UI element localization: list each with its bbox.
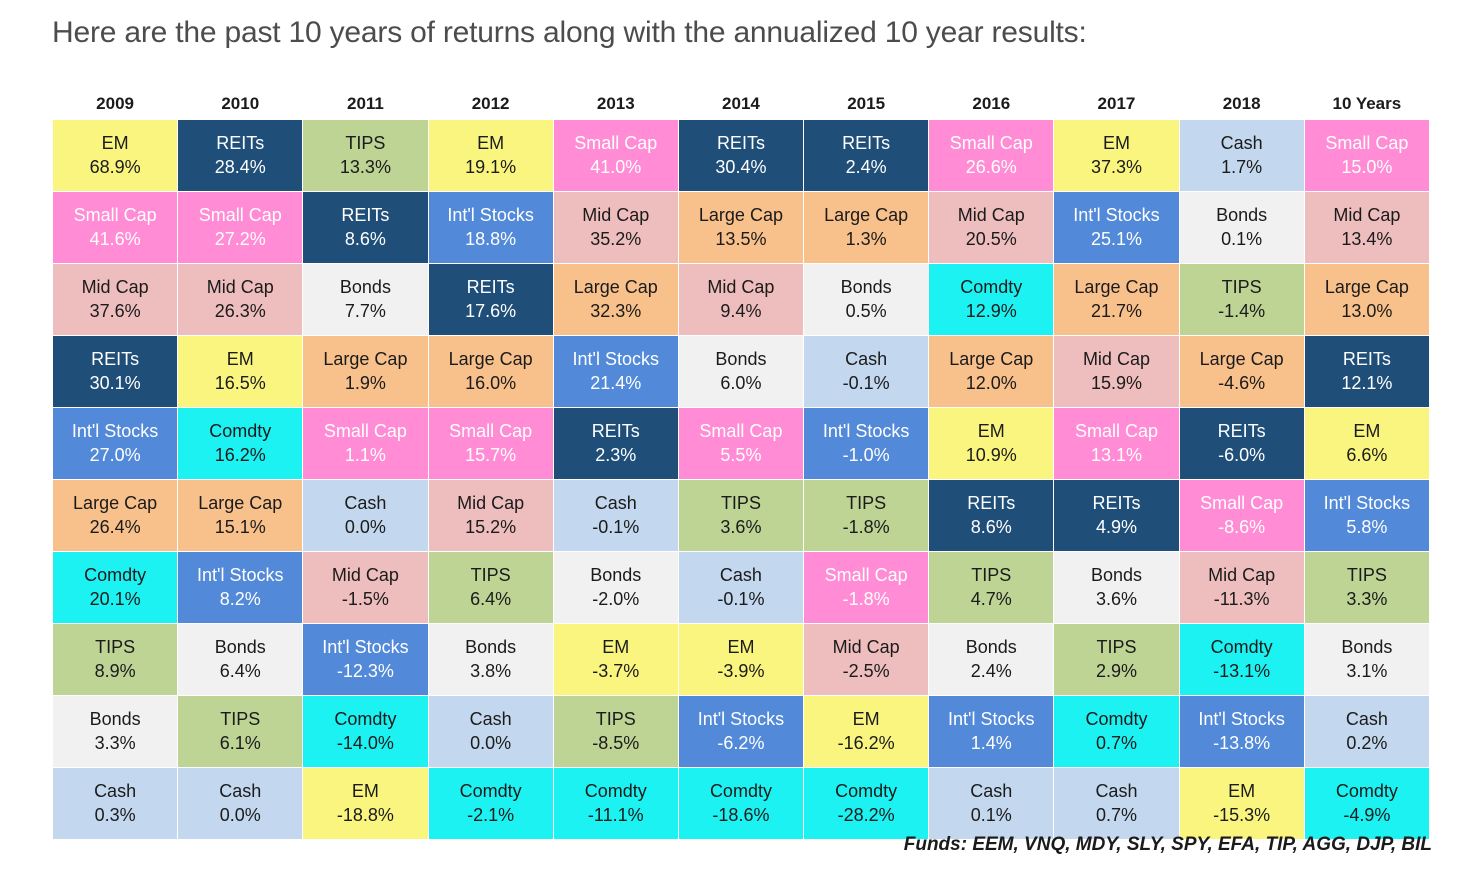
quilt-cell--intlstocks: Int'l Stocks-1.0%: [804, 408, 929, 480]
quilt-cell--largecap: Large Cap13.5%: [678, 192, 803, 264]
quilt-cell--cash: Cash-0.1%: [553, 480, 678, 552]
cell-asset-label: Int'l Stocks: [1054, 204, 1178, 227]
quilt-cell--smallcap: Small Cap1.1%: [303, 408, 428, 480]
quilt-cell--cash: Cash0.0%: [303, 480, 428, 552]
cell-return-value: 0.0%: [303, 516, 427, 539]
cell-return-value: 2.3%: [554, 444, 678, 467]
quilt-cell--bonds: Bonds6.0%: [678, 336, 803, 408]
cell-asset-label: TIPS: [679, 492, 803, 515]
column-header-: 2014: [678, 86, 803, 120]
cell-asset-label: Cash: [679, 564, 803, 587]
cell-asset-label: Small Cap: [679, 420, 803, 443]
cell-return-value: -16.2%: [804, 732, 928, 755]
cell-asset-label: EM: [303, 780, 427, 803]
cell-asset-label: Comdty: [804, 780, 928, 803]
cell-return-value: -1.5%: [303, 588, 427, 611]
cell-asset-label: TIPS: [804, 492, 928, 515]
cell-asset-label: Int'l Stocks: [804, 420, 928, 443]
cell-return-value: 0.1%: [929, 804, 1053, 827]
cell-return-value: 26.3%: [178, 300, 302, 323]
cell-return-value: -18.8%: [303, 804, 427, 827]
quilt-cell--tips: TIPS3.6%: [678, 480, 803, 552]
quilt-cell-years-intlstocks: Int'l Stocks5.8%: [1304, 480, 1429, 552]
cell-return-value: 35.2%: [554, 228, 678, 251]
quilt-cell--reits: REITs30.4%: [678, 120, 803, 192]
cell-asset-label: Int'l Stocks: [929, 708, 1053, 731]
cell-return-value: 15.2%: [429, 516, 553, 539]
cell-asset-label: EM: [1305, 420, 1429, 443]
cell-asset-label: EM: [429, 132, 553, 155]
quilt-cell--comdty: Comdty-28.2%: [804, 768, 929, 840]
cell-asset-label: TIPS: [929, 564, 1053, 587]
quilt-cell--midcap: Mid Cap15.2%: [428, 480, 553, 552]
column-header-years: 10 Years: [1304, 86, 1429, 120]
quilt-cell-years-comdty: Comdty-4.9%: [1304, 768, 1429, 840]
cell-return-value: 15.9%: [1054, 372, 1178, 395]
cell-asset-label: Comdty: [303, 708, 427, 731]
cell-return-value: 0.2%: [1305, 732, 1429, 755]
cell-return-value: 1.4%: [929, 732, 1053, 755]
cell-asset-label: Large Cap: [303, 348, 427, 371]
cell-asset-label: REITs: [1305, 348, 1429, 371]
cell-return-value: 17.6%: [429, 300, 553, 323]
quilt-cell--em: EM10.9%: [929, 408, 1054, 480]
cell-return-value: -1.8%: [804, 588, 928, 611]
quilt-cell--bonds: Bonds3.8%: [428, 624, 553, 696]
cell-return-value: 15.1%: [178, 516, 302, 539]
quilt-cell--cash: Cash0.7%: [1054, 768, 1179, 840]
cell-asset-label: Small Cap: [429, 420, 553, 443]
quilt-cell--largecap: Large Cap1.9%: [303, 336, 428, 408]
cell-return-value: 37.3%: [1054, 156, 1178, 179]
cell-asset-label: EM: [679, 636, 803, 659]
cell-asset-label: Mid Cap: [804, 636, 928, 659]
cell-asset-label: Large Cap: [1054, 276, 1178, 299]
cell-asset-label: Large Cap: [929, 348, 1053, 371]
quilt-cell--intlstocks: Int'l Stocks27.0%: [53, 408, 178, 480]
quilt-cell--comdty: Comdty-13.1%: [1179, 624, 1304, 696]
cell-asset-label: Mid Cap: [1305, 204, 1429, 227]
cell-return-value: 3.3%: [1305, 588, 1429, 611]
cell-asset-label: Large Cap: [1305, 276, 1429, 299]
cell-asset-label: Comdty: [53, 564, 177, 587]
cell-asset-label: Cash: [53, 780, 177, 803]
cell-return-value: -2.0%: [554, 588, 678, 611]
quilt-cell--em: EM-15.3%: [1179, 768, 1304, 840]
quilt-cell-years-em: EM6.6%: [1304, 408, 1429, 480]
quilt-cell--bonds: Bonds3.3%: [53, 696, 178, 768]
quilt-cell--smallcap: Small Cap-1.8%: [804, 552, 929, 624]
cell-return-value: 1.1%: [303, 444, 427, 467]
cell-asset-label: TIPS: [429, 564, 553, 587]
quilt-cell--comdty: Comdty12.9%: [929, 264, 1054, 336]
quilt-cell--largecap: Large Cap1.3%: [804, 192, 929, 264]
quilt-cell--midcap: Mid Cap20.5%: [929, 192, 1054, 264]
cell-return-value: 0.0%: [178, 804, 302, 827]
quilt-cell--smallcap: Small Cap13.1%: [1054, 408, 1179, 480]
quilt-cell--comdty: Comdty-18.6%: [678, 768, 803, 840]
quilt-cell--smallcap: Small Cap5.5%: [678, 408, 803, 480]
quilt-cell--tips: TIPS8.9%: [53, 624, 178, 696]
cell-asset-label: Int'l Stocks: [429, 204, 553, 227]
cell-asset-label: Small Cap: [804, 564, 928, 587]
cell-return-value: 6.1%: [178, 732, 302, 755]
cell-return-value: 4.9%: [1054, 516, 1178, 539]
quilt-cell--reits: REITs8.6%: [303, 192, 428, 264]
cell-asset-label: Cash: [554, 492, 678, 515]
column-header-: 2013: [553, 86, 678, 120]
quilt-cell--bonds: Bonds0.5%: [804, 264, 929, 336]
cell-return-value: 41.0%: [554, 156, 678, 179]
cell-asset-label: EM: [804, 708, 928, 731]
table-row: TIPS8.9%Bonds6.4%Int'l Stocks-12.3%Bonds…: [53, 624, 1430, 696]
cell-asset-label: Bonds: [53, 708, 177, 731]
cell-return-value: 8.6%: [929, 516, 1053, 539]
cell-return-value: 3.6%: [679, 516, 803, 539]
quilt-cell--midcap: Mid Cap-2.5%: [804, 624, 929, 696]
cell-asset-label: TIPS: [53, 636, 177, 659]
cell-asset-label: Int'l Stocks: [303, 636, 427, 659]
quilt-cell--reits: REITs4.9%: [1054, 480, 1179, 552]
cell-return-value: 2.9%: [1054, 660, 1178, 683]
table-row: Int'l Stocks27.0%Comdty16.2%Small Cap1.1…: [53, 408, 1430, 480]
column-header-: 2018: [1179, 86, 1304, 120]
column-header-: 2015: [804, 86, 929, 120]
cell-asset-label: Int'l Stocks: [1180, 708, 1304, 731]
quilt-cell--comdty: Comdty-11.1%: [553, 768, 678, 840]
cell-return-value: 16.0%: [429, 372, 553, 395]
quilt-cell-years-smallcap: Small Cap15.0%: [1304, 120, 1429, 192]
cell-return-value: 5.8%: [1305, 516, 1429, 539]
cell-asset-label: Comdty: [429, 780, 553, 803]
funds-footnote: Funds: EEM, VNQ, MDY, SLY, SPY, EFA, TIP…: [904, 834, 1432, 856]
quilt-cell--largecap: Large Cap21.7%: [1054, 264, 1179, 336]
cell-asset-label: REITs: [804, 132, 928, 155]
cell-return-value: -12.3%: [303, 660, 427, 683]
cell-return-value: -8.6%: [1180, 516, 1304, 539]
quilt-cell--cash: Cash1.7%: [1179, 120, 1304, 192]
cell-asset-label: Comdty: [554, 780, 678, 803]
cell-asset-label: Bonds: [429, 636, 553, 659]
cell-return-value: 13.5%: [679, 228, 803, 251]
cell-asset-label: Small Cap: [929, 132, 1053, 155]
cell-asset-label: Bonds: [929, 636, 1053, 659]
cell-return-value: 27.2%: [178, 228, 302, 251]
cell-return-value: -18.6%: [679, 804, 803, 827]
quilt-cell--em: EM-18.8%: [303, 768, 428, 840]
cell-asset-label: Comdty: [1054, 708, 1178, 731]
quilt-cell--comdty: Comdty-14.0%: [303, 696, 428, 768]
cell-asset-label: Int'l Stocks: [679, 708, 803, 731]
quilt-cell--tips: TIPS6.1%: [178, 696, 303, 768]
cell-return-value: -3.7%: [554, 660, 678, 683]
quilt-cell--reits: REITs28.4%: [178, 120, 303, 192]
cell-return-value: -13.1%: [1180, 660, 1304, 683]
cell-asset-label: TIPS: [1180, 276, 1304, 299]
column-header-: 2011: [303, 86, 428, 120]
cell-asset-label: REITs: [554, 420, 678, 443]
cell-asset-label: Large Cap: [1180, 348, 1304, 371]
quilt-cell--em: EM16.5%: [178, 336, 303, 408]
cell-return-value: -0.1%: [679, 588, 803, 611]
cell-asset-label: Int'l Stocks: [1305, 492, 1429, 515]
cell-return-value: 6.4%: [178, 660, 302, 683]
cell-return-value: -0.1%: [554, 516, 678, 539]
cell-return-value: 13.4%: [1305, 228, 1429, 251]
cell-asset-label: Mid Cap: [429, 492, 553, 515]
cell-asset-label: Cash: [929, 780, 1053, 803]
quilt-cell--comdty: Comdty-2.1%: [428, 768, 553, 840]
cell-return-value: 25.1%: [1054, 228, 1178, 251]
cell-return-value: 8.2%: [178, 588, 302, 611]
quilt-cell--tips: TIPS4.7%: [929, 552, 1054, 624]
cell-return-value: -11.3%: [1180, 588, 1304, 611]
quilt-cell--em: EM-3.7%: [553, 624, 678, 696]
cell-return-value: -11.1%: [554, 804, 678, 827]
cell-return-value: -6.0%: [1180, 444, 1304, 467]
quilt-cell--bonds: Bonds7.7%: [303, 264, 428, 336]
cell-asset-label: EM: [1054, 132, 1178, 155]
cell-return-value: -14.0%: [303, 732, 427, 755]
cell-asset-label: Comdty: [1180, 636, 1304, 659]
quilt-cell--intlstocks: Int'l Stocks-12.3%: [303, 624, 428, 696]
cell-return-value: 12.1%: [1305, 372, 1429, 395]
quilt-cell--midcap: Mid Cap-11.3%: [1179, 552, 1304, 624]
cell-asset-label: EM: [929, 420, 1053, 443]
cell-asset-label: Bonds: [804, 276, 928, 299]
cell-return-value: 15.7%: [429, 444, 553, 467]
cell-return-value: 21.4%: [554, 372, 678, 395]
cell-return-value: 41.6%: [53, 228, 177, 251]
quilt-cell--smallcap: Small Cap26.6%: [929, 120, 1054, 192]
quilt-cell--cash: Cash-0.1%: [804, 336, 929, 408]
quilt-cell--em: EM37.3%: [1054, 120, 1179, 192]
cell-asset-label: Cash: [1180, 132, 1304, 155]
cell-return-value: 0.0%: [429, 732, 553, 755]
cell-return-value: 6.0%: [679, 372, 803, 395]
quilt-cell--smallcap: Small Cap41.0%: [553, 120, 678, 192]
cell-asset-label: TIPS: [1305, 564, 1429, 587]
cell-return-value: -4.9%: [1305, 804, 1429, 827]
cell-return-value: 32.3%: [554, 300, 678, 323]
quilt-cell--midcap: Mid Cap37.6%: [53, 264, 178, 336]
cell-asset-label: Cash: [804, 348, 928, 371]
cell-return-value: -2.1%: [429, 804, 553, 827]
cell-asset-label: Small Cap: [178, 204, 302, 227]
cell-return-value: 13.3%: [303, 156, 427, 179]
quilt-cell--largecap: Large Cap12.0%: [929, 336, 1054, 408]
cell-asset-label: Comdty: [178, 420, 302, 443]
cell-return-value: 3.1%: [1305, 660, 1429, 683]
quilt-cell--midcap: Mid Cap35.2%: [553, 192, 678, 264]
cell-asset-label: Int'l Stocks: [53, 420, 177, 443]
cell-asset-label: TIPS: [554, 708, 678, 731]
cell-return-value: 2.4%: [804, 156, 928, 179]
quilt-cell-years-largecap: Large Cap13.0%: [1304, 264, 1429, 336]
table-row: Mid Cap37.6%Mid Cap26.3%Bonds7.7%REITs17…: [53, 264, 1430, 336]
quilt-cell--smallcap: Small Cap27.2%: [178, 192, 303, 264]
quilt-cell--intlstocks: Int'l Stocks21.4%: [553, 336, 678, 408]
quilt-cell--reits: REITs2.4%: [804, 120, 929, 192]
quilt-cell--bonds: Bonds-2.0%: [553, 552, 678, 624]
cell-return-value: -6.2%: [679, 732, 803, 755]
quilt-cell--intlstocks: Int'l Stocks1.4%: [929, 696, 1054, 768]
cell-return-value: 21.7%: [1054, 300, 1178, 323]
cell-return-value: 20.1%: [53, 588, 177, 611]
quilt-cell--em: EM19.1%: [428, 120, 553, 192]
cell-return-value: 3.8%: [429, 660, 553, 683]
cell-asset-label: Mid Cap: [178, 276, 302, 299]
cell-asset-label: Large Cap: [679, 204, 803, 227]
cell-return-value: 7.7%: [303, 300, 427, 323]
table-row: REITs30.1%EM16.5%Large Cap1.9%Large Cap1…: [53, 336, 1430, 408]
quilt-cell--bonds: Bonds2.4%: [929, 624, 1054, 696]
column-header-: 2009: [53, 86, 178, 120]
quilt-cell--cash: Cash0.0%: [178, 768, 303, 840]
quilt-cell--smallcap: Small Cap-8.6%: [1179, 480, 1304, 552]
cell-asset-label: REITs: [679, 132, 803, 155]
cell-asset-label: Large Cap: [429, 348, 553, 371]
cell-return-value: 26.4%: [53, 516, 177, 539]
cell-asset-label: Small Cap: [1305, 132, 1429, 155]
cell-asset-label: Int'l Stocks: [178, 564, 302, 587]
quilt-cell--comdty: Comdty0.7%: [1054, 696, 1179, 768]
cell-asset-label: Mid Cap: [554, 204, 678, 227]
cell-return-value: 0.3%: [53, 804, 177, 827]
cell-return-value: -3.9%: [679, 660, 803, 683]
quilt-cell--reits: REITs17.6%: [428, 264, 553, 336]
cell-return-value: 4.7%: [929, 588, 1053, 611]
cell-asset-label: Bonds: [554, 564, 678, 587]
cell-return-value: 3.3%: [53, 732, 177, 755]
cell-return-value: 30.1%: [53, 372, 177, 395]
cell-return-value: 0.7%: [1054, 732, 1178, 755]
cell-return-value: 8.6%: [303, 228, 427, 251]
cell-return-value: 28.4%: [178, 156, 302, 179]
cell-asset-label: Mid Cap: [303, 564, 427, 587]
cell-asset-label: Bonds: [679, 348, 803, 371]
quilt-cell--bonds: Bonds6.4%: [178, 624, 303, 696]
cell-asset-label: REITs: [1180, 420, 1304, 443]
cell-asset-label: Small Cap: [554, 132, 678, 155]
cell-asset-label: Mid Cap: [929, 204, 1053, 227]
cell-asset-label: Cash: [1305, 708, 1429, 731]
cell-return-value: 20.5%: [929, 228, 1053, 251]
quilt-cell--smallcap: Small Cap41.6%: [53, 192, 178, 264]
table-row: Small Cap41.6%Small Cap27.2%REITs8.6%Int…: [53, 192, 1430, 264]
quilt-cell-years-bonds: Bonds3.1%: [1304, 624, 1429, 696]
quilt-cell--cash: Cash-0.1%: [678, 552, 803, 624]
cell-return-value: 5.5%: [679, 444, 803, 467]
quilt-cell--tips: TIPS-1.4%: [1179, 264, 1304, 336]
quilt-cell--reits: REITs8.6%: [929, 480, 1054, 552]
cell-return-value: 13.0%: [1305, 300, 1429, 323]
cell-return-value: -1.0%: [804, 444, 928, 467]
cell-return-value: 15.0%: [1305, 156, 1429, 179]
cell-return-value: 2.4%: [929, 660, 1053, 683]
quilt-cell--tips: TIPS2.9%: [1054, 624, 1179, 696]
quilt-cell--em: EM-16.2%: [804, 696, 929, 768]
table-row: Large Cap26.4%Large Cap15.1%Cash0.0%Mid …: [53, 480, 1430, 552]
cell-return-value: -4.6%: [1180, 372, 1304, 395]
table-body: EM68.9%REITs28.4%TIPS13.3%EM19.1%Small C…: [53, 120, 1430, 840]
cell-asset-label: REITs: [929, 492, 1053, 515]
quilt-cell--tips: TIPS13.3%: [303, 120, 428, 192]
cell-asset-label: Large Cap: [554, 276, 678, 299]
cell-asset-label: EM: [554, 636, 678, 659]
cell-return-value: 13.1%: [1054, 444, 1178, 467]
table-header: 2009201020112012201320142015201620172018…: [53, 86, 1430, 120]
cell-asset-label: REITs: [1054, 492, 1178, 515]
cell-return-value: -1.4%: [1180, 300, 1304, 323]
cell-return-value: 30.4%: [679, 156, 803, 179]
cell-asset-label: Large Cap: [804, 204, 928, 227]
quilt-cell--em: EM-3.9%: [678, 624, 803, 696]
cell-asset-label: Comdty: [679, 780, 803, 803]
cell-asset-label: Large Cap: [178, 492, 302, 515]
cell-return-value: 12.9%: [929, 300, 1053, 323]
quilt-cell-years-tips: TIPS3.3%: [1304, 552, 1429, 624]
quilt-cell--midcap: Mid Cap26.3%: [178, 264, 303, 336]
table-row: EM68.9%REITs28.4%TIPS13.3%EM19.1%Small C…: [53, 120, 1430, 192]
cell-return-value: 0.1%: [1180, 228, 1304, 251]
quilt-cell--cash: Cash0.0%: [428, 696, 553, 768]
cell-return-value: 18.8%: [429, 228, 553, 251]
cell-return-value: 1.9%: [303, 372, 427, 395]
cell-return-value: 1.3%: [804, 228, 928, 251]
cell-asset-label: Comdty: [1305, 780, 1429, 803]
cell-asset-label: TIPS: [178, 708, 302, 731]
column-header-: 2012: [428, 86, 553, 120]
page-title: Here are the past 10 years of returns al…: [52, 16, 1087, 50]
cell-return-value: 26.6%: [929, 156, 1053, 179]
cell-asset-label: Mid Cap: [53, 276, 177, 299]
cell-asset-label: Small Cap: [303, 420, 427, 443]
cell-return-value: 16.5%: [178, 372, 302, 395]
quilt-cell--reits: REITs-6.0%: [1179, 408, 1304, 480]
cell-asset-label: Mid Cap: [1180, 564, 1304, 587]
cell-return-value: -15.3%: [1180, 804, 1304, 827]
quilt-cell--reits: REITs30.1%: [53, 336, 178, 408]
cell-return-value: -13.8%: [1180, 732, 1304, 755]
quilt-cell--largecap: Large Cap16.0%: [428, 336, 553, 408]
cell-asset-label: Small Cap: [1054, 420, 1178, 443]
cell-asset-label: Small Cap: [53, 204, 177, 227]
cell-return-value: 68.9%: [53, 156, 177, 179]
quilt-cell-years-midcap: Mid Cap13.4%: [1304, 192, 1429, 264]
cell-return-value: 12.0%: [929, 372, 1053, 395]
table-row: Cash0.3%Cash0.0%EM-18.8%Comdty-2.1%Comdt…: [53, 768, 1430, 840]
cell-return-value: -1.8%: [804, 516, 928, 539]
quilt-cell-years-reits: REITs12.1%: [1304, 336, 1429, 408]
cell-return-value: 8.9%: [53, 660, 177, 683]
cell-asset-label: Small Cap: [1180, 492, 1304, 515]
cell-asset-label: REITs: [178, 132, 302, 155]
quilt-cell--midcap: Mid Cap15.9%: [1054, 336, 1179, 408]
cell-asset-label: REITs: [429, 276, 553, 299]
cell-return-value: 1.7%: [1180, 156, 1304, 179]
table-row: Bonds3.3%TIPS6.1%Comdty-14.0%Cash0.0%TIP…: [53, 696, 1430, 768]
cell-asset-label: Bonds: [1054, 564, 1178, 587]
quilt-cell--tips: TIPS6.4%: [428, 552, 553, 624]
cell-return-value: 10.9%: [929, 444, 1053, 467]
cell-return-value: -0.1%: [804, 372, 928, 395]
quilt-cell-years-cash: Cash0.2%: [1304, 696, 1429, 768]
cell-asset-label: Comdty: [929, 276, 1053, 299]
quilt-cell--tips: TIPS-8.5%: [553, 696, 678, 768]
cell-return-value: -2.5%: [804, 660, 928, 683]
cell-asset-label: Bonds: [178, 636, 302, 659]
